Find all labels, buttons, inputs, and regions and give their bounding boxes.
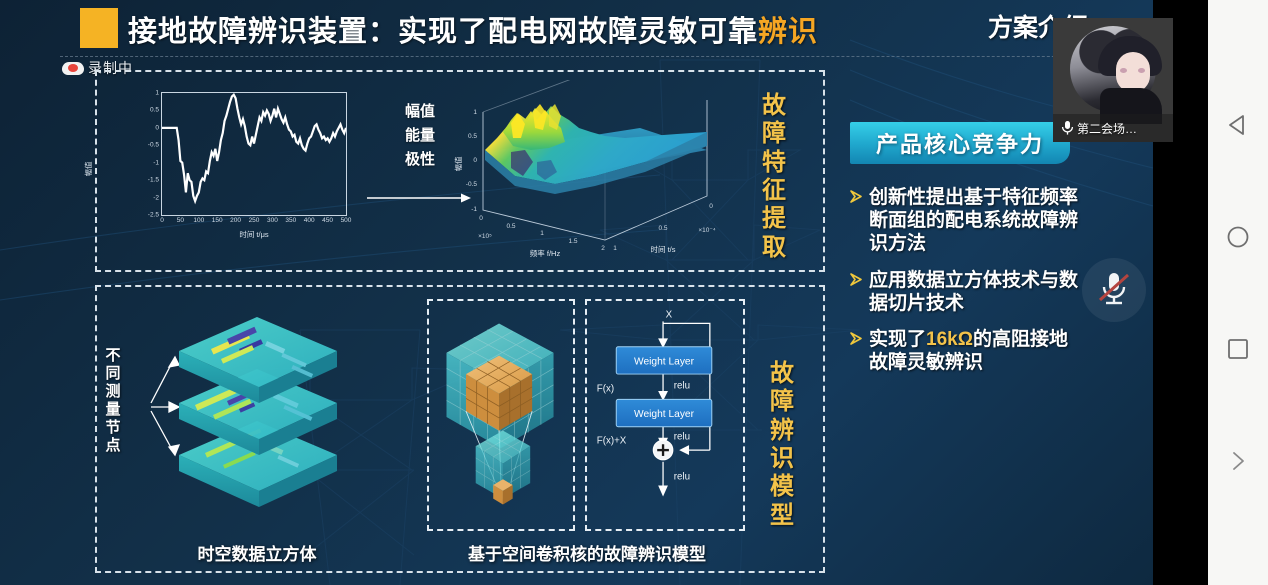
nodes-ch-3: 测 xyxy=(101,383,125,401)
record-cloud-icon xyxy=(62,61,84,76)
resnet-fx-plus-x-label: F(x)+X xyxy=(597,435,627,446)
vcap-bot-4: 识 xyxy=(766,445,798,473)
waveform-x-tick: 500 xyxy=(341,217,352,224)
svg-text:1: 1 xyxy=(613,245,617,252)
svg-text:频率 f/Hz: 频率 f/Hz xyxy=(530,248,561,258)
screen: 接地故障辨识装置：实现了配电网故障灵敏可靠辨识 方案介绍 录制中 幅值 时间 t… xyxy=(0,0,1268,585)
feature-extraction-panel: 幅值 时间 t/μs 10.50-0.5-1-1.5-2-2.505010015… xyxy=(95,70,825,272)
video-tile-name: 第二会场… xyxy=(1077,120,1137,137)
resnet-block-panel: X Weight Layer Weight Layer relu relu xyxy=(585,299,745,531)
core-competency-section: 产品核心竞争力 创新性提出基于特征频率断面组的配电系统故障辨识方法 应用数据立方… xyxy=(850,122,1080,387)
page-title-main: 接地故障辨识装置：实现了配电网故障灵敏可靠 xyxy=(128,16,758,48)
conv-kernel-graphic xyxy=(429,301,573,529)
competency-item-1: 创新性提出基于特征频率断面组的配电系统故障辨识方法 xyxy=(850,186,1080,256)
waveform-y-tick: -2.5 xyxy=(148,212,159,219)
avatar xyxy=(1070,26,1156,112)
resnet-weight-layer-2: Weight Layer xyxy=(634,409,695,420)
vcap-top-6: 取 xyxy=(758,234,790,262)
waveform-y-tick: 1 xyxy=(155,90,159,97)
model-caption: 基于空间卷积核的故障辨识模型 xyxy=(427,540,747,565)
waveform-x-tick: 50 xyxy=(177,217,184,224)
resnet-weight-layer-1: Weight Layer xyxy=(634,356,695,367)
core-competency-banner-label: 产品核心竞争力 xyxy=(876,127,1044,159)
chevron-bullet-icon xyxy=(850,328,863,374)
fault-identification-caption: 故 障 辨 识 模 型 xyxy=(766,360,798,530)
waveform-y-tick: -1.5 xyxy=(148,177,159,184)
recents-square-icon xyxy=(1225,336,1251,362)
vcap-top-4: 征 xyxy=(758,177,790,205)
svg-text:0: 0 xyxy=(473,157,477,164)
waveform-x-tick: 400 xyxy=(304,217,315,224)
svg-text:1: 1 xyxy=(473,109,477,116)
fault-identification-panel: 不 同 测 量 节 点 xyxy=(95,285,825,573)
waveform-x-tick: 150 xyxy=(212,217,223,224)
arrow-label-2: 能量 xyxy=(405,124,435,145)
home-button[interactable] xyxy=(1221,220,1255,254)
waveform-x-tick: 250 xyxy=(249,217,260,224)
chevron-bullet-icon xyxy=(850,269,863,315)
resnet-input-label: X xyxy=(666,310,673,321)
nodes-ch-5: 节 xyxy=(101,419,125,437)
resnet-relu-3: relu xyxy=(674,471,690,482)
svg-text:0.5: 0.5 xyxy=(468,133,477,140)
resnet-diagram: X Weight Layer Weight Layer relu relu xyxy=(587,301,743,529)
waveform-line xyxy=(162,93,346,215)
waveform-y-tick: 0 xyxy=(155,124,159,131)
time-frequency-surface-chart: 1 0.5 0 -0.5 -1 幅值 0 0.5 1 1.5 2 ×10⁵ 频率… xyxy=(445,80,735,260)
header-marker xyxy=(80,8,118,48)
arrow-label-3: 极性 xyxy=(405,148,435,169)
vcap-bot-1: 故 xyxy=(766,360,798,388)
back-button[interactable] xyxy=(1221,108,1255,142)
waveform-y-label: 幅值 xyxy=(83,162,94,177)
data-cube-graphic xyxy=(127,295,387,535)
svg-text:0: 0 xyxy=(709,203,713,210)
waveform-x-tick: 300 xyxy=(267,217,278,224)
vcap-bot-3: 辨 xyxy=(766,417,798,445)
mic-mute-button[interactable] xyxy=(1082,258,1146,322)
recents-button[interactable] xyxy=(1221,332,1255,366)
slide-header: 接地故障辨识装置：实现了配电网故障灵敏可靠辨识 方案介绍 xyxy=(0,0,1153,55)
resnet-relu-1: relu xyxy=(674,381,690,392)
spatiotemporal-data-cube xyxy=(127,295,387,535)
resnet-relu-2: relu xyxy=(674,431,690,442)
waveform-x-tick: 350 xyxy=(285,217,296,224)
svg-text:0.5: 0.5 xyxy=(506,223,515,230)
microphone-icon xyxy=(1061,120,1074,136)
nodes-ch-6: 点 xyxy=(101,437,125,455)
waveform-y-tick: -1 xyxy=(153,159,159,166)
competency-item-3-pre: 实现了 xyxy=(869,329,926,350)
video-tile-footer: 第二会场… xyxy=(1053,114,1173,142)
data-cube-caption: 时空数据立方体 xyxy=(127,540,387,565)
conv-kernel-panel xyxy=(427,299,575,531)
competency-item-3-highlight: 16kΩ xyxy=(926,329,973,350)
svg-text:时间 t/s: 时间 t/s xyxy=(650,244,675,254)
core-competency-list: 创新性提出基于特征频率断面组的配电系统故障辨识方法 应用数据立方体技术与数据切片… xyxy=(850,186,1080,374)
svg-text:幅值: 幅值 xyxy=(453,156,463,171)
presentation-slide: 接地故障辨识装置：实现了配电网故障灵敏可靠辨识 方案介绍 录制中 幅值 时间 t… xyxy=(0,0,1153,585)
svg-text:0.5: 0.5 xyxy=(658,225,667,232)
core-competency-banner: 产品核心竞争力 xyxy=(850,122,1070,164)
page-title-accent: 辨识 xyxy=(758,16,818,48)
vcap-bot-5: 模 xyxy=(766,473,798,501)
vcap-top-2: 障 xyxy=(758,120,790,148)
waveform-x-tick: 100 xyxy=(193,217,204,224)
nodes-ch-4: 量 xyxy=(101,401,125,419)
competency-item-1-text: 创新性提出基于特征频率断面组的配电系统故障辨识方法 xyxy=(869,186,1080,256)
nodes-ch-1: 不 xyxy=(101,347,125,365)
competency-item-2-text: 应用数据立方体技术与数据切片技术 xyxy=(869,269,1080,315)
competency-item-2: 应用数据立方体技术与数据切片技术 xyxy=(850,269,1080,315)
expand-button[interactable] xyxy=(1221,444,1255,478)
page-title: 接地故障辨识装置：实现了配电网故障灵敏可靠辨识 xyxy=(128,8,818,50)
svg-text:1.5: 1.5 xyxy=(568,238,577,245)
chevron-right-icon xyxy=(1225,448,1251,474)
vcap-top-5: 提 xyxy=(758,205,790,233)
competency-item-3: 实现了16kΩ的高阻接地故障灵敏辨识 xyxy=(850,328,1080,374)
waveform-x-tick: 450 xyxy=(322,217,333,224)
competency-item-3-text: 实现了16kΩ的高阻接地故障灵敏辨识 xyxy=(869,328,1080,374)
nodes-ch-2: 同 xyxy=(101,365,125,383)
arrow-label-1: 幅值 xyxy=(405,100,435,121)
svg-text:0: 0 xyxy=(479,215,483,222)
svg-text:2: 2 xyxy=(601,245,605,252)
svg-text:-0.5: -0.5 xyxy=(466,181,478,188)
measurement-nodes-label: 不 同 测 量 节 点 xyxy=(101,347,125,455)
vcap-bot-6: 型 xyxy=(766,502,798,530)
waveform-chart: 幅值 时间 t/μs 10.50-0.5-1-1.5-2-2.505010015… xyxy=(115,84,355,254)
waveform-x-tick: 200 xyxy=(230,217,241,224)
chevron-bullet-icon xyxy=(850,186,863,256)
waveform-x-label: 时间 t/μs xyxy=(239,229,268,240)
android-navigation-bar xyxy=(1208,0,1268,585)
surface-plot: 1 0.5 0 -0.5 -1 幅值 0 0.5 1 1.5 2 ×10⁵ 频率… xyxy=(445,80,735,260)
waveform-x-tick: 0 xyxy=(160,217,164,224)
waveform-y-tick: -2 xyxy=(153,194,159,201)
waveform-y-tick: 0.5 xyxy=(150,107,159,114)
video-participant-tile[interactable]: 第二会场… xyxy=(1053,18,1173,142)
waveform-y-tick: -0.5 xyxy=(148,142,159,149)
vcap-top-1: 故 xyxy=(758,92,790,120)
vcap-bot-2: 障 xyxy=(766,388,798,416)
home-circle-icon xyxy=(1225,224,1251,250)
svg-text:1: 1 xyxy=(540,230,544,237)
vcap-top-3: 特 xyxy=(758,149,790,177)
svg-text:×10⁵: ×10⁵ xyxy=(478,233,492,240)
svg-text:×10⁻⁴: ×10⁻⁴ xyxy=(698,227,715,234)
header-divider xyxy=(60,56,1150,57)
resnet-fx-label: F(x) xyxy=(597,384,614,395)
waveform-plot-area: 时间 t/μs 10.50-0.5-1-1.5-2-2.505010015020… xyxy=(161,92,347,216)
microphone-muted-icon xyxy=(1096,270,1132,310)
feature-extraction-caption: 故 障 特 征 提 取 xyxy=(758,92,790,262)
svg-text:-1: -1 xyxy=(471,206,477,213)
back-triangle-icon xyxy=(1225,112,1251,138)
